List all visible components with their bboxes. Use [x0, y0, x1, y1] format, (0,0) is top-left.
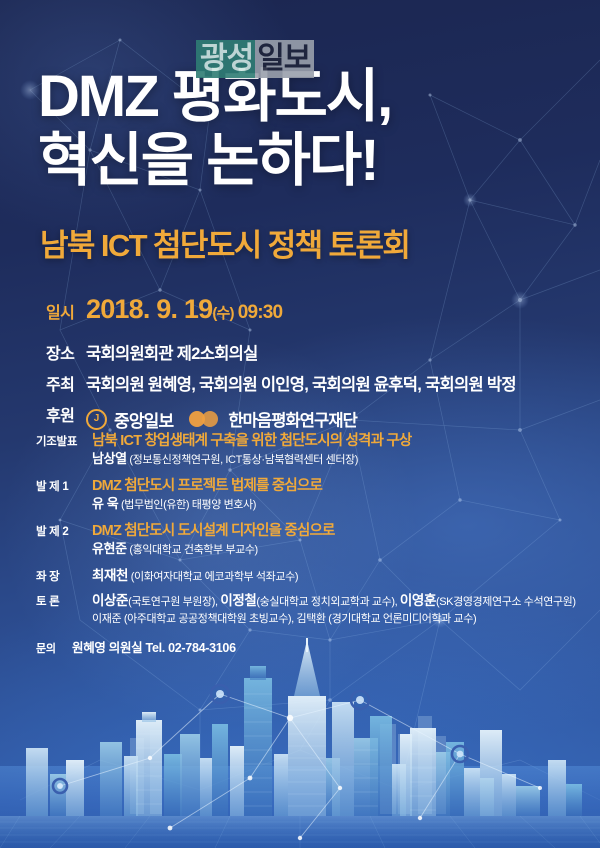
- program-tag: 발 제 1: [36, 477, 92, 495]
- chair-name: 최재천: [92, 568, 128, 583]
- date-text: 2018. 9. 19: [86, 294, 212, 324]
- presenter-affiliation: (법무법인(유한) 태평양 변호사): [121, 499, 256, 511]
- info-row-date: 일시 2018. 9. 19(수)09:30: [46, 295, 516, 328]
- panelist-affiliation: (국토연구원 부원장),: [128, 596, 220, 608]
- host-label: 주최: [46, 371, 86, 395]
- contact-label: 문의: [36, 640, 72, 656]
- program-presenter: 유현준 (홍익대학교 건축학부 부교수): [92, 541, 581, 558]
- program-presenter: 유 욱 (법무법인(유한) 태평양 변호사): [92, 496, 581, 513]
- presenter-name: 유 욱: [92, 496, 118, 511]
- presenter-affiliation: (홍익대학교 건축학부 부교수): [129, 544, 257, 556]
- panel-body: 이상준(국토연구원 부원장), 이정철(숭실대학교 정치외교학과 교수), 이영…: [92, 592, 581, 628]
- program-item-session-2: 발 제 2 DMZ 첨단도시 도시설계 디자인을 중심으로 유현준 (홍익대학교…: [36, 522, 581, 558]
- program-item-keynote: 기조발표 남북 ICT 창업생태계 구축을 위한 첨단도시의 성격과 구상 남상…: [36, 432, 581, 468]
- program-item-panel: 토 론 이상준(국토연구원 부원장), 이정철(숭실대학교 정치외교학과 교수)…: [36, 592, 581, 628]
- host-value: 국회의원 원혜영, 국회의원 이인영, 국회의원 윤후덕, 국회의원 박정: [86, 371, 516, 395]
- program-title: 남북 ICT 창업생태계 구축을 위한 첨단도시의 성격과 구상: [92, 432, 581, 450]
- watermark: 광성 일보: [196, 40, 314, 78]
- venue-value: 국회의원회관 제2소회의실: [86, 340, 258, 364]
- sponsor-logos: J 중앙일보 한마음평화연구재단: [86, 407, 357, 432]
- event-info-block: 일시 2018. 9. 19(수)09:30 장소 국회의원회관 제2소회의실 …: [46, 295, 516, 439]
- program-tag: 발 제 2: [36, 522, 92, 540]
- presenter-name: 남상열: [92, 451, 127, 466]
- city-skyline-graphic: [0, 638, 600, 848]
- program-tag: 기조발표: [36, 432, 92, 450]
- chair-tag: 좌 장: [36, 567, 92, 585]
- contact-block: 문의 원혜영 의원실 Tel. 02-784-3106: [36, 637, 236, 656]
- sponsor-hanmaum-name: 한마음평화연구재단: [228, 407, 357, 431]
- chair-affiliation: (이화여자대학교 에코과학부 석좌교수): [131, 571, 298, 583]
- watermark-part1: 광성: [196, 40, 255, 78]
- program-presenter: 남상열 (정보통신정책연구원, ICT통상·남북협력센터 센터장): [92, 451, 581, 468]
- contact-value: 원혜영 의원실 Tel. 02-784-3106: [72, 637, 236, 656]
- poster-subtitle: 남북 ICT 첨단도시 정책 토론회: [40, 228, 409, 264]
- title-line-2: 혁신을 논하다!: [38, 130, 391, 192]
- chair-body: 최재천 (이화여자대학교 에코과학부 석좌교수): [92, 567, 581, 586]
- watermark-part2: 일보: [255, 40, 314, 78]
- panelist-name: 이정철: [220, 593, 256, 608]
- date-label: 일시: [46, 299, 86, 323]
- hanmaum-circles-icon: [189, 411, 221, 427]
- panelist-affiliation: (SK경영경제연구소 수석연구원): [436, 596, 576, 608]
- date-dow: (수): [212, 305, 233, 322]
- sponsor-joongang-name: 중앙일보: [114, 407, 173, 432]
- panel-tag: 토 론: [36, 592, 92, 610]
- program-block: 기조발표 남북 ICT 창업생태계 구축을 위한 첨단도시의 성격과 구상 남상…: [36, 432, 581, 634]
- info-row-venue: 장소 국회의원회관 제2소회의실: [46, 340, 516, 364]
- program-item-chair: 좌 장 최재천 (이화여자대학교 에코과학부 석좌교수): [36, 567, 581, 586]
- panelist-name: 이상준: [92, 593, 128, 608]
- panel-line-2: 이재준 (아주대학교 공공정책대학원 초빙교수), 김택환 (경기대학교 언론미…: [92, 611, 581, 628]
- panelist-name: 이영훈: [400, 593, 436, 608]
- info-row-host: 주최 국회의원 원혜영, 국회의원 이인영, 국회의원 윤후덕, 국회의원 박정: [46, 371, 516, 395]
- program-body: 남북 ICT 창업생태계 구축을 위한 첨단도시의 성격과 구상 남상열 (정보…: [92, 432, 581, 468]
- venue-label: 장소: [46, 340, 86, 364]
- program-body: DMZ 첨단도시 도시설계 디자인을 중심으로 유현준 (홍익대학교 건축학부 …: [92, 522, 581, 558]
- program-item-session-1: 발 제 1 DMZ 첨단도시 프로젝트 법제를 중심으로 유 욱 (법무법인(유…: [36, 477, 581, 513]
- joongang-j-icon: J: [86, 409, 107, 430]
- presenter-name: 유현준: [92, 541, 127, 556]
- program-title: DMZ 첨단도시 프로젝트 법제를 중심으로: [92, 477, 581, 495]
- program-title: DMZ 첨단도시 도시설계 디자인을 중심으로: [92, 522, 581, 540]
- info-row-sponsor: 후원 J 중앙일보 한마음평화연구재단: [46, 402, 516, 432]
- event-poster: 광성 일보 DMZ 평화도시, 혁신을 논하다! 남북 ICT 첨단도시 정책 …: [0, 0, 600, 848]
- program-body: DMZ 첨단도시 프로젝트 법제를 중심으로 유 욱 (법무법인(유한) 태평양…: [92, 477, 581, 513]
- panelist-affiliation: (숭실대학교 정치외교학과 교수),: [256, 596, 400, 608]
- panel-line-1: 이상준(국토연구원 부원장), 이정철(숭실대학교 정치외교학과 교수), 이영…: [92, 592, 581, 611]
- presenter-affiliation: (정보통신정책연구원, ICT통상·남북협력센터 센터장): [129, 454, 358, 466]
- date-value: 2018. 9. 19(수)09:30: [86, 295, 282, 328]
- date-time: 09:30: [238, 302, 283, 323]
- poster-title: DMZ 평화도시, 혁신을 논하다!: [38, 66, 391, 192]
- sponsor-label: 후원: [46, 402, 86, 426]
